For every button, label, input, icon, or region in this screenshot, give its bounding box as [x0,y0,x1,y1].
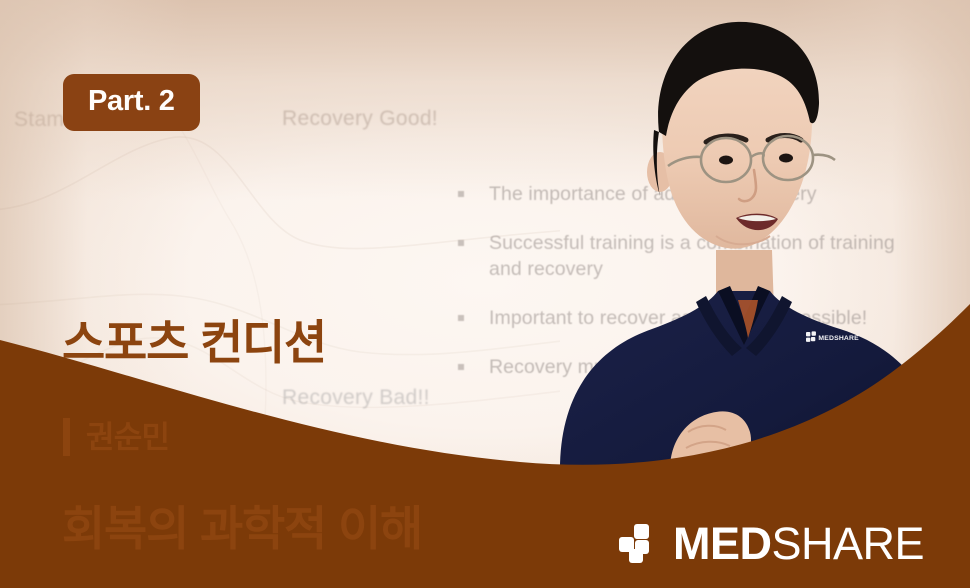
slide-label-recovery-good: Recovery Good! [282,107,438,131]
page-title-line-2: 회복의 과학적 이해 [62,498,422,560]
speaker-name: 권순민 [86,422,169,453]
presenter-head [647,22,835,249]
medshare-wordmark: MEDSHARE [673,521,924,566]
wordmark-med: MED [673,518,772,569]
bullet-square-icon [458,191,464,197]
page-title-line-1: 스포츠 컨디션 [62,312,422,374]
speaker-credit: 권순민 [63,418,169,456]
medshare-logo: MEDSHARE [618,521,924,566]
title-card: Stamina Recovery Good! Recovery Bad!! Th… [0,0,970,588]
bullet-square-icon [458,240,464,246]
wordmark-share: SHARE [771,518,924,569]
part-badge: Part. 2 [63,74,200,131]
speaker-accent-bar [63,418,70,456]
page-title: 스포츠 컨디션 회복의 과학적 이해 [62,188,422,588]
medshare-cross-icon [618,523,660,565]
